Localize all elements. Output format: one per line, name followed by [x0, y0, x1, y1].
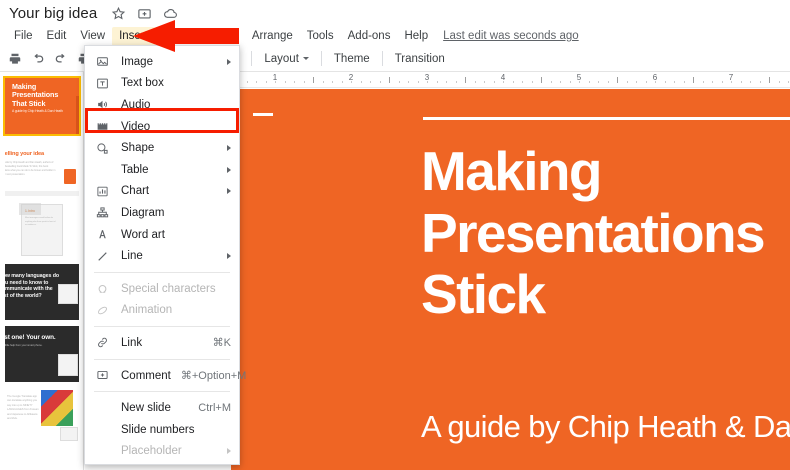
thumb-subtitle: With a little help from your smart phone… [5, 344, 57, 347]
layout-label: Layout [264, 53, 299, 65]
menu-item-link[interactable]: Link ⌘K [85, 332, 239, 354]
ruler-minor-tick [332, 81, 333, 83]
image-icon [94, 54, 110, 70]
menu-item-comment[interactable]: Comment ⌘+Option+M [85, 365, 239, 387]
menu-help[interactable]: Help [397, 27, 435, 46]
ruler-minor-tick [532, 81, 533, 83]
cloud-saved-icon[interactable] [163, 6, 178, 21]
menu-item-label: Placeholder [121, 445, 219, 457]
theme-button[interactable]: Theme [326, 50, 378, 68]
menu-item-placeholder[interactable]: Placeholder [85, 441, 239, 463]
thumb-flags-image [41, 390, 73, 426]
ruler-minor-tick [741, 81, 742, 83]
menu-item-shortcut: Ctrl+M [198, 402, 231, 414]
menu-item-table[interactable]: Table [85, 159, 239, 181]
ruler-minor-tick [674, 81, 675, 83]
ruler-minor-tick [722, 81, 723, 83]
menu-item-label: Chart [121, 185, 219, 197]
slide-dash-decoration [253, 113, 273, 116]
ruler-minor-tick [636, 81, 637, 83]
menu-tools[interactable]: Tools [300, 27, 341, 46]
menu-item-label: Shape [121, 142, 219, 154]
chevron-right-icon [227, 145, 231, 151]
ruler-minor-tick [522, 81, 523, 83]
menu-item-label: New slide [121, 402, 188, 414]
ruler-minor-tick [760, 81, 761, 83]
ruler-number: 4 [501, 73, 505, 82]
chevron-right-icon [227, 188, 231, 194]
no-icon [94, 162, 110, 178]
menu-arrange[interactable]: Arrange [245, 27, 300, 46]
ruler-number: 3 [425, 73, 429, 82]
ruler-major-tick [769, 77, 770, 83]
toolbar-divider-5 [382, 51, 383, 66]
last-edit-status[interactable]: Last edit was seconds ago [443, 30, 579, 42]
no-icon [94, 443, 110, 459]
menu-item-slide-numbers[interactable]: Slide numbers [85, 419, 239, 441]
ruler-minor-tick [247, 81, 248, 83]
menu-item-animation[interactable]: Animation [85, 300, 239, 322]
list-item[interactable]: The Google Translate app can translate a… [5, 388, 79, 444]
document-title[interactable]: Your big idea [9, 5, 97, 22]
ruler-minor-tick [475, 81, 476, 83]
menu-item-shape[interactable]: Shape [85, 137, 239, 159]
ruler-minor-tick [266, 81, 267, 83]
thumb-title: The Google Translate app can translate a… [7, 394, 39, 421]
slide-subtitle-text[interactable]: A guide by Chip Heath & Dan H [421, 409, 790, 445]
chevron-right-icon [227, 253, 231, 259]
google-slides-window: Your big idea File Edit View Insert Form… [0, 0, 790, 470]
ruler-number: 2 [349, 73, 353, 82]
ruler-number: 5 [577, 73, 581, 82]
ruler-minor-tick [494, 81, 495, 83]
menu-file[interactable]: File [7, 27, 40, 46]
thumb-photo [19, 203, 41, 215]
menu-item-shortcut: ⌘+Option+M [181, 369, 246, 382]
menu-view[interactable]: View [73, 27, 112, 46]
menu-item-label: Diagram [121, 207, 231, 219]
ruler-minor-tick [589, 81, 590, 83]
thumb-edge-accent [76, 96, 79, 134]
ruler-minor-tick [304, 81, 305, 83]
menu-addons[interactable]: Add-ons [341, 27, 398, 46]
layout-button[interactable]: Layout [256, 50, 317, 68]
list-item[interactable]: Making Presentations That Stick A guide … [5, 78, 79, 134]
menu-insert[interactable]: Insert [112, 27, 155, 46]
no-icon [94, 422, 110, 438]
title-icon-group [111, 6, 178, 21]
ruler-major-tick [389, 77, 390, 83]
filmstrip-scroll-area[interactable] [2, 459, 82, 468]
thumb-title: Making Presentations That Stick [12, 83, 74, 108]
animation-icon [94, 302, 110, 318]
ruler-minor-tick [418, 81, 419, 83]
transition-button[interactable]: Transition [387, 50, 453, 68]
ruler-minor-tick [570, 81, 571, 83]
menu-divider [94, 359, 230, 360]
ruler-minor-tick [788, 81, 789, 83]
undo-icon[interactable] [28, 49, 48, 69]
ruler-minor-tick [256, 81, 257, 83]
omega-icon [94, 281, 110, 297]
ruler-minor-tick [750, 81, 751, 83]
menu-item-label: Table [121, 164, 219, 176]
menu-format[interactable]: Format [155, 27, 205, 46]
insert-dropdown-menu[interactable]: Image Text box Audio Video Shape [84, 45, 240, 465]
menu-item-label: Line [121, 250, 219, 262]
thumb-paper [58, 284, 78, 304]
thumb-paper [60, 427, 78, 441]
menu-item-label: Comment [121, 370, 171, 382]
ruler-minor-tick [399, 81, 400, 83]
ruler-minor-tick [285, 81, 286, 83]
toolbar-divider-3 [251, 51, 252, 66]
slide-filmstrip[interactable]: Making Presentations That Stick A guide … [0, 72, 84, 470]
menu-item-label: Video [121, 121, 231, 133]
thumb-book-image [64, 169, 76, 184]
current-slide[interactable]: Making Presentations Stick A guide by Ch… [231, 89, 790, 470]
ruler-minor-tick [370, 81, 371, 83]
redo-icon[interactable] [51, 49, 71, 69]
chevron-right-icon [227, 59, 231, 65]
ruler-minor-tick [380, 81, 381, 83]
ruler-minor-tick [513, 81, 514, 83]
menu-item-label: Audio [121, 99, 231, 111]
ruler-minor-tick [294, 81, 295, 83]
thumbnail-slide-1: Making Presentations That Stick A guide … [5, 78, 79, 134]
thumb-title: Just one! Your own. [5, 334, 67, 341]
ruler-number: 7 [729, 73, 733, 82]
ruler-major-tick [541, 77, 542, 83]
thumbnail-slide-4: How many languages do you need to know t… [5, 264, 79, 320]
slide-rule-decoration [423, 117, 790, 120]
thumbnail-slide-2: Selling your idea A guide by Chip Heath … [5, 140, 79, 196]
thumb-footer-band [5, 191, 79, 196]
toolbar-divider-4 [321, 51, 322, 66]
ruler-minor-tick [627, 81, 628, 83]
chart-icon [94, 183, 110, 199]
thumb-body: A guide by Chip Heath and Dan Heath, aut… [5, 161, 57, 177]
ruler-major-tick [313, 77, 314, 83]
chevron-down-icon [303, 57, 309, 60]
ruler-minor-tick [408, 81, 409, 83]
ruler-major-tick [693, 77, 694, 83]
ruler-minor-tick [608, 81, 609, 83]
diagram-icon [94, 205, 110, 221]
thumbnail-slide-6: The Google Translate app can translate a… [5, 388, 79, 444]
chevron-right-icon [227, 167, 231, 173]
ruler-number: 6 [653, 73, 657, 82]
slide-title-text[interactable]: Making Presentations Stick [421, 141, 790, 326]
thumb-paper [58, 354, 78, 376]
print-icon[interactable] [5, 49, 25, 69]
menu-bar: File Edit View Insert Format Slide Arran… [0, 26, 790, 46]
word-art-icon [94, 227, 110, 243]
menu-item-label: Word art [121, 229, 231, 241]
ruler-minor-tick [551, 81, 552, 83]
thumb-title: How many languages do you need to know t… [5, 273, 59, 299]
menu-item-line[interactable]: Line [85, 245, 239, 267]
thumbnail-slide-3: 1. Intro Most managers would rather do a… [5, 202, 79, 258]
audio-icon [94, 97, 110, 113]
list-item[interactable]: Selling your idea A guide by Chip Heath … [5, 140, 79, 196]
ruler-minor-tick [361, 81, 362, 83]
ruler-minor-tick [323, 81, 324, 83]
ruler-minor-tick [342, 81, 343, 83]
menu-divider [94, 272, 230, 273]
thumbnail-slide-5: Just one! Your own. With a little help f… [5, 326, 79, 382]
move-to-folder-icon[interactable] [137, 6, 152, 21]
menu-item-label: Special characters [121, 283, 231, 295]
menu-edit[interactable]: Edit [40, 27, 74, 46]
ruler-major-tick [617, 77, 618, 83]
menu-item-image[interactable]: Image [85, 51, 239, 73]
menu-item-shortcut: ⌘K [213, 336, 231, 349]
list-item[interactable]: Just one! Your own. With a little help f… [5, 326, 79, 382]
ruler-minor-tick [437, 81, 438, 83]
menu-item-label: Animation [121, 304, 231, 316]
menu-divider [94, 391, 230, 392]
menu-item-label: Text box [121, 77, 231, 89]
ruler-minor-tick [712, 81, 713, 83]
title-bar: Your big idea [0, 0, 790, 26]
ruler-minor-tick [665, 81, 666, 83]
line-icon [94, 248, 110, 264]
menu-item-text-box[interactable]: Text box [85, 73, 239, 95]
ruler-minor-tick [456, 81, 457, 83]
menu-item-chart[interactable]: Chart [85, 181, 239, 203]
menu-slide[interactable]: Slide [205, 27, 245, 46]
shape-icon [94, 140, 110, 156]
thumb-subtitle: A guide by Chip Heath & Dan Heath [12, 110, 74, 114]
chevron-right-icon [227, 448, 231, 454]
menu-item-special-characters[interactable]: Special characters [85, 278, 239, 300]
comment-icon [94, 368, 110, 384]
ruler-minor-tick [598, 81, 599, 83]
no-icon [94, 400, 110, 416]
menu-item-label: Link [121, 337, 203, 349]
menu-item-video[interactable]: Video [85, 116, 239, 138]
video-icon [94, 119, 110, 135]
ruler-minor-tick [646, 81, 647, 83]
ruler-minor-tick [779, 81, 780, 83]
menu-item-label: Image [121, 56, 219, 68]
list-item[interactable]: How many languages do you need to know t… [5, 264, 79, 320]
ruler-number: 1 [273, 73, 277, 82]
menu-item-label: Slide numbers [121, 424, 231, 436]
ruler-minor-tick [446, 81, 447, 83]
text-box-icon [94, 75, 110, 91]
ruler-minor-tick [484, 81, 485, 83]
list-item[interactable]: 1. Intro Most managers would rather do a… [5, 202, 79, 258]
ruler-major-tick [465, 77, 466, 83]
menu-item-audio[interactable]: Audio [85, 94, 239, 116]
link-icon [94, 335, 110, 351]
ruler-minor-tick [703, 81, 704, 83]
horizontal-ruler[interactable]: 1234567 [231, 72, 790, 88]
menu-divider [94, 326, 230, 327]
ruler-minor-tick [684, 81, 685, 83]
star-icon[interactable] [111, 6, 126, 21]
thumb-body: Most managers would rather do anything e… [25, 217, 58, 228]
menu-item-word-art[interactable]: Word art [85, 224, 239, 246]
ruler-minor-tick [560, 81, 561, 83]
thumb-title: Selling your idea [5, 151, 67, 157]
menu-item-new-slide[interactable]: New slide Ctrl+M [85, 397, 239, 419]
menu-item-diagram[interactable]: Diagram [85, 202, 239, 224]
